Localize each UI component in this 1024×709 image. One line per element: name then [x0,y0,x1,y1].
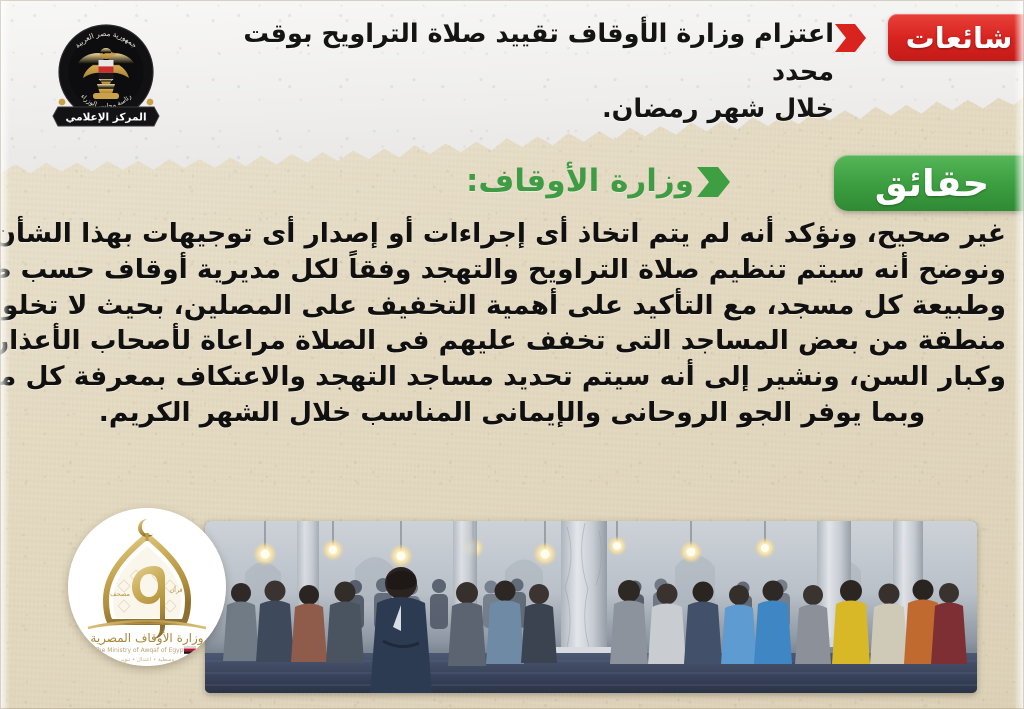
facts-body-text: غير صحيح، ونؤكد أنه لم يتم اتخاذ أى إجرا… [18,216,1006,431]
facts-badge-label: حقائق [875,162,989,205]
headline-line-2: خلال شهر رمضان. [174,91,834,129]
rumors-badge-label: شائعات [906,21,1013,55]
body-line: منطقة من بعض المساجد التى تخفف عليهم فى … [18,323,1006,359]
egypt-cabinet-media-center-emblem: جمهورية مصر العربية رئاسة مجلس الوزراء [46,12,166,134]
page-edge-left [0,0,10,709]
rumor-double-chevron-icon [835,22,877,54]
body-line: وبما يوفر الجو الروحانى والإيمانى المناس… [18,395,1006,431]
page-edge-right [1014,0,1024,709]
facts-double-chevron-icon [697,165,741,199]
headline: اعتزام وزارة الأوقاف تقييد صلاة التراويح… [174,16,834,129]
facts-badge: حقائق [834,155,1024,211]
body-line: وطبيعة كل مسجد، مع التأكيد على أهمية الت… [18,288,1006,324]
svg-text:قرآن: قرآن [169,585,182,594]
svg-text:المركز الإعلامي: المركز الإعلامي [65,112,146,124]
body-line: ونوضح أنه سيتم تنظيم صلاة التراويح والته… [18,252,1006,288]
rumors-badge: شائعات [888,14,1024,61]
mosque-prayer-congregation-photo [205,521,977,693]
body-line: وكبار السن، ونشير إلى أنه سيتم تحديد مسا… [18,359,1006,395]
svg-text:The Ministry of Awqaf of Egypt: The Ministry of Awqaf of Egypt [93,647,186,654]
svg-text:وسطية • اعتدال • تنوير: وسطية • اعتدال • تنوير [119,657,175,663]
facts-subtitle: وزارة الأوقاف: [466,163,694,199]
svg-text:مصحف: مصحف [110,590,130,598]
ministry-of-awqaf-egypt-logo: مصحف قرآن وزارة الأوقاف المصرية The Mini… [68,508,226,666]
body-line: غير صحيح، ونؤكد أنه لم يتم اتخاذ أى إجرا… [18,216,1006,252]
fact-check-poster: جمهورية مصر العربية رئاسة مجلس الوزراء [0,0,1024,709]
headline-line-1: اعتزام وزارة الأوقاف تقييد صلاة التراويح… [174,16,834,91]
svg-text:وزارة الأوقاف المصرية: وزارة الأوقاف المصرية [90,630,203,646]
